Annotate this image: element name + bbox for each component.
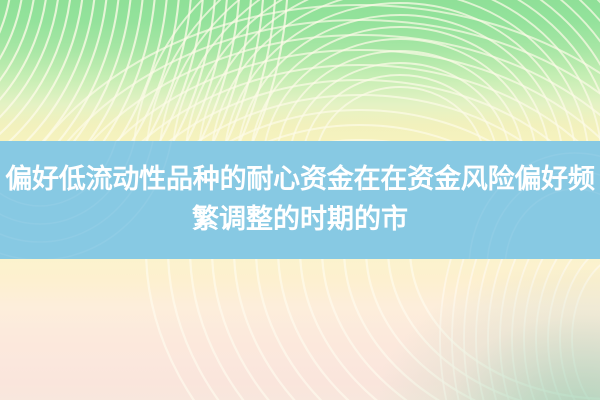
concentric-arcs-icon bbox=[250, 0, 600, 141]
corner-glow-icon bbox=[380, 270, 600, 400]
top-gradient-panel bbox=[0, 0, 600, 141]
page-title: 偏好低流动性品种的耐心资金在在资金风险偏好频 繁调整的时期的市 bbox=[0, 141, 600, 259]
bottom-gradient-panel bbox=[0, 259, 600, 400]
headline-line-2: 繁调整的时期的市 bbox=[192, 200, 408, 240]
concentric-arcs-icon bbox=[300, 40, 600, 141]
headline-line-1: 偏好低流动性品种的耐心资金在在资金风险偏好频 bbox=[5, 160, 595, 200]
banner-image: 偏好低流动性品种的耐心资金在在资金风险偏好频 繁调整的时期的市 bbox=[0, 0, 600, 400]
concentric-arcs-icon bbox=[0, 0, 340, 141]
